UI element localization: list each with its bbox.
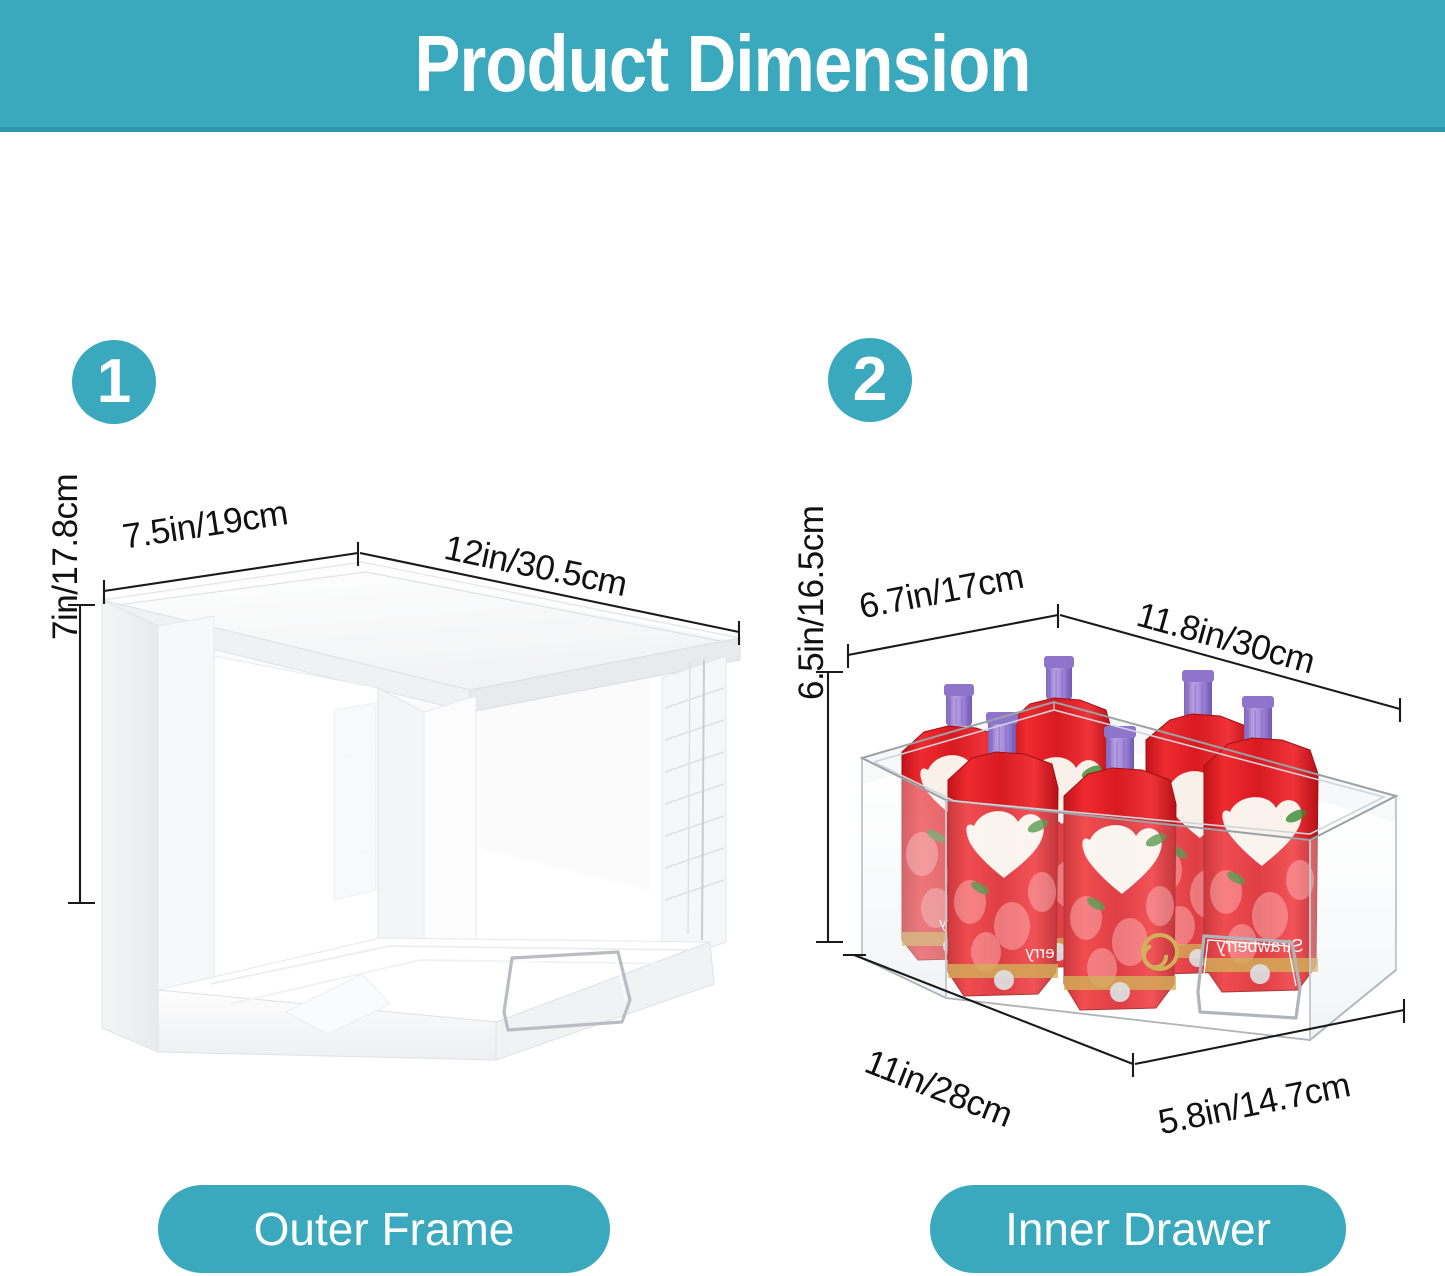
product-dimension-infographic: Product Dimension 1 2: [0, 0, 1445, 1276]
frame-center-post: [378, 688, 424, 980]
page-title: Product Dimension: [101, 0, 1344, 127]
dim-label-drawer-height: 6.5in/16.5cm: [792, 450, 832, 700]
dim-label-frame-height: 7in/17.8cm: [46, 400, 86, 640]
outer-frame-svg: [90, 560, 750, 1060]
frame-right-rail-panel: [662, 656, 726, 964]
frame-left-post-outer: [102, 600, 158, 1052]
step-badge-2: 2: [828, 338, 912, 422]
dim-label-drawer-top-depth: 6.7in/17cm: [856, 557, 1027, 627]
inner-drawer-illustration: erry: [840, 640, 1420, 1060]
dim-label-frame-depth: 7.5in/19cm: [120, 493, 290, 557]
inner-drawer-svg: erry: [840, 640, 1420, 1060]
outer-frame-illustration: [90, 560, 750, 1060]
dim-label-drawer-bottom-depth: 5.8in/14.7cm: [1155, 1065, 1353, 1143]
frame-center-post-face: [424, 696, 476, 980]
header-banner: Product Dimension: [0, 0, 1445, 132]
caption-outer-frame: Outer Frame: [158, 1185, 610, 1273]
caption-inner-drawer: Inner Drawer: [930, 1185, 1346, 1273]
